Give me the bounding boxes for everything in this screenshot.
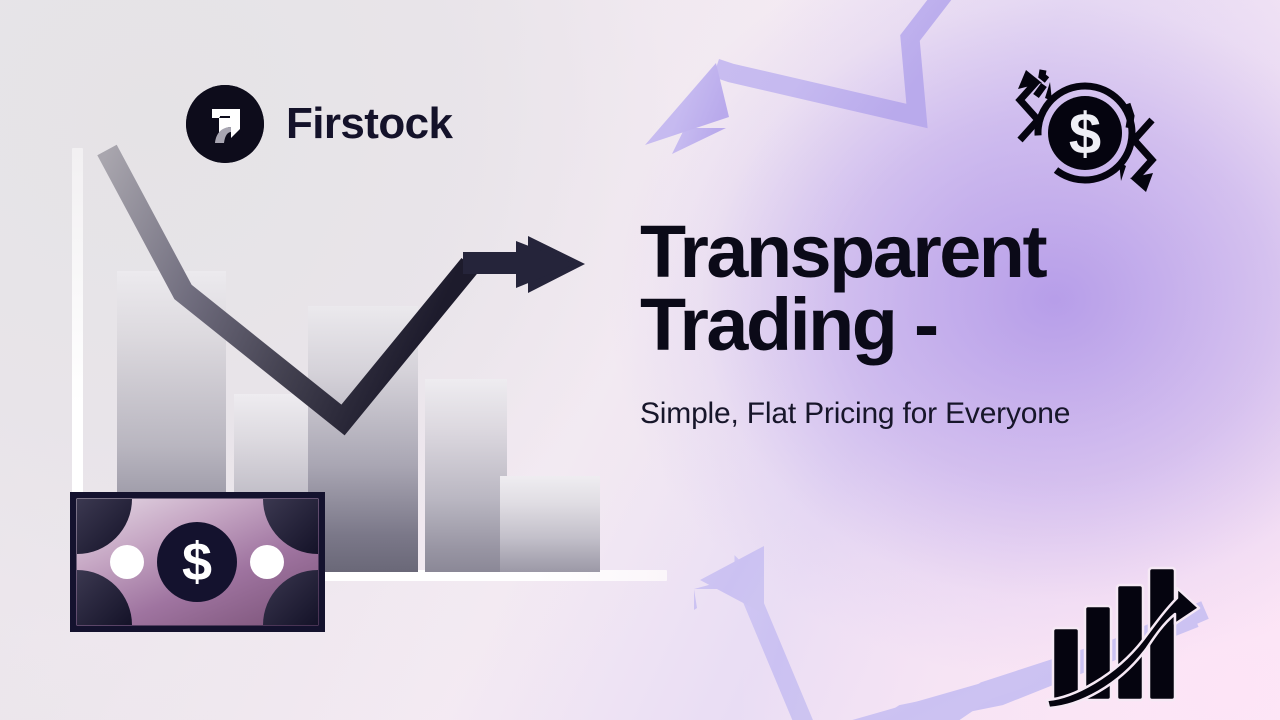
dollar-exchange-icon: $ (990, 58, 1180, 208)
exchange-dollar-symbol: $ (1069, 102, 1101, 167)
banknote-dollar-symbol: $ (182, 532, 212, 592)
page-title: Transparent Trading - (640, 216, 1232, 361)
brand-name: Firstock (286, 99, 452, 149)
firstock-logo-mark-icon (186, 85, 264, 163)
hero-banner: $ Firstock Transparent Trading - Simple,… (0, 0, 1280, 720)
growth-bar-chart-icon (1043, 560, 1203, 710)
hero-copy: Transparent Trading - Simple, Flat Prici… (640, 216, 1220, 431)
brand-logo[interactable]: Firstock (186, 85, 452, 163)
page-subtitle: Simple, Flat Pricing for Everyone (640, 397, 1220, 431)
dollar-banknote: $ (70, 492, 325, 632)
